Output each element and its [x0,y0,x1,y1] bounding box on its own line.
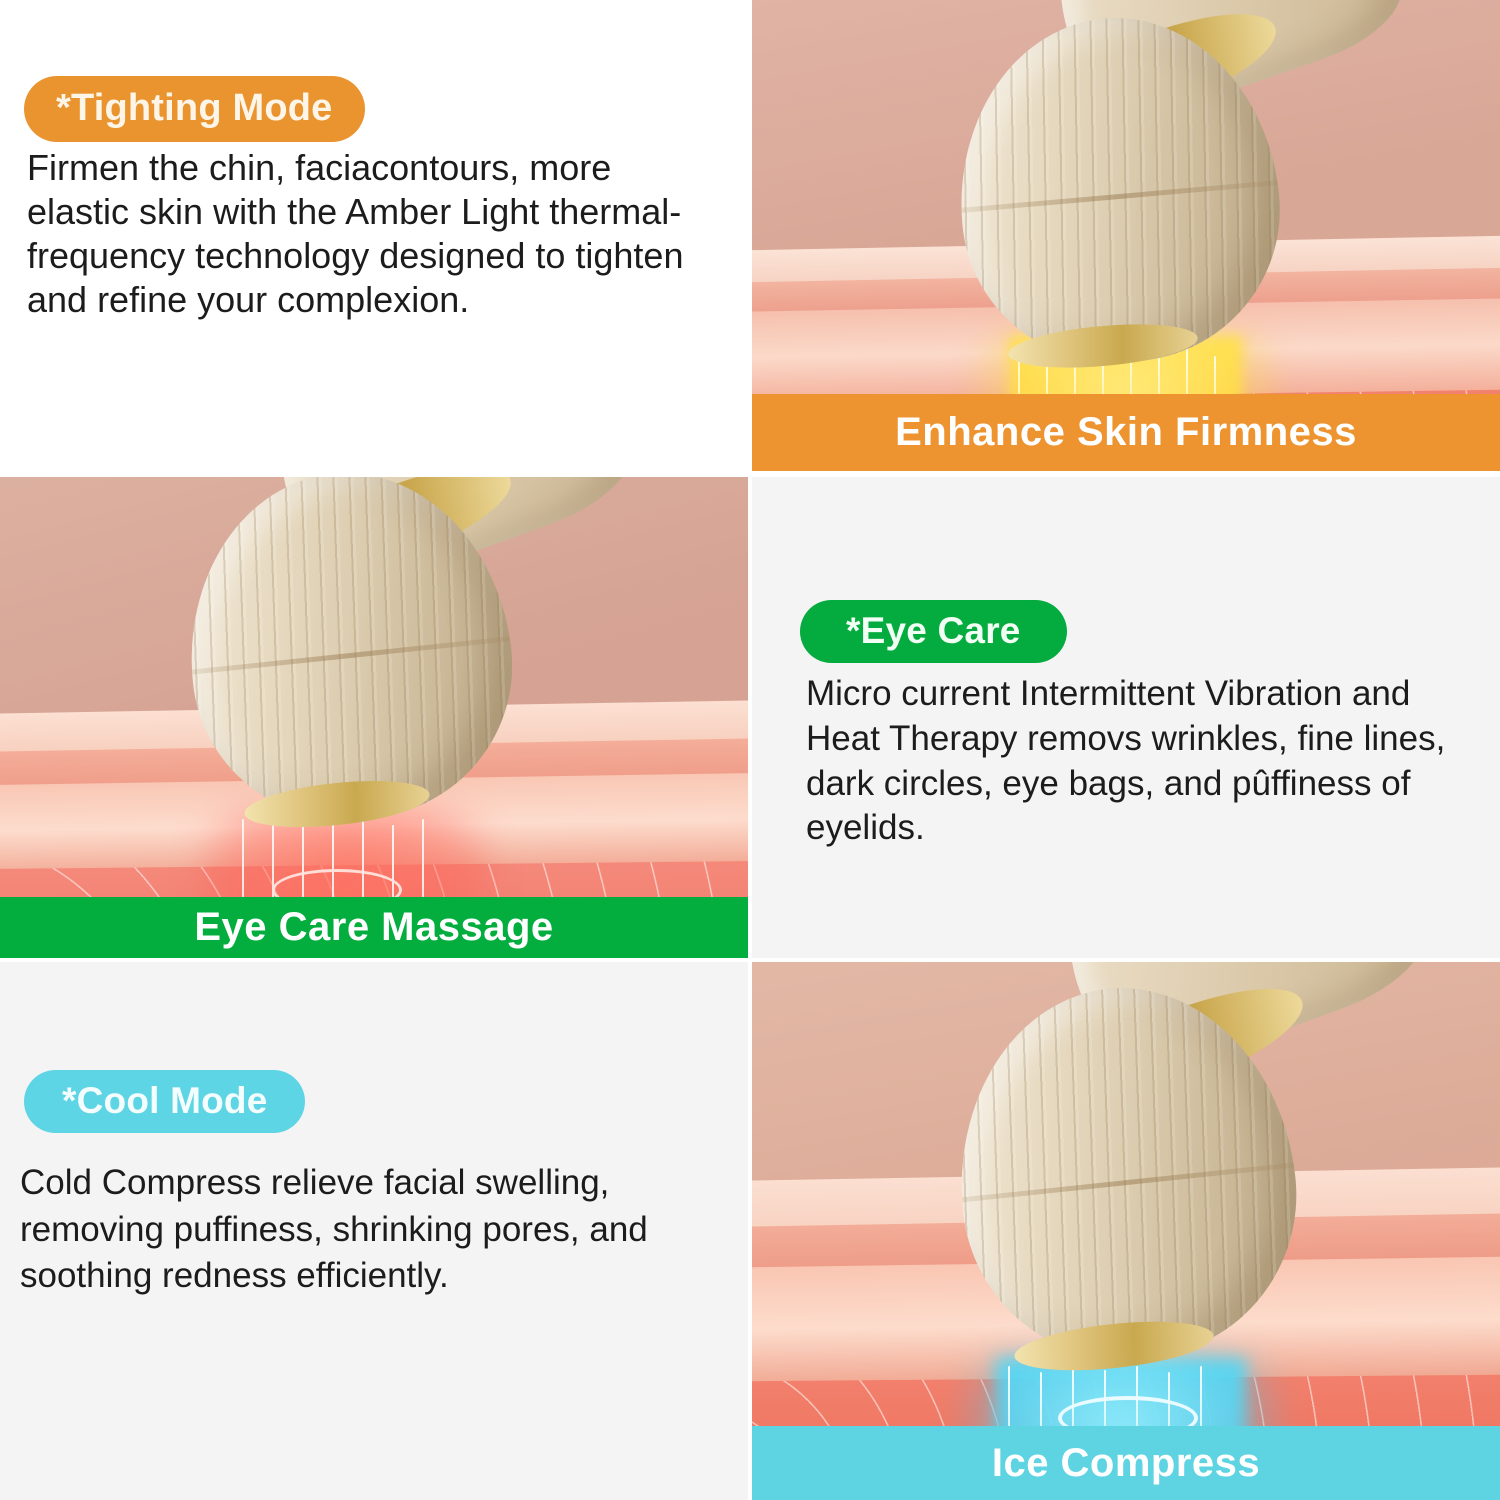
device-head-ribs [942,972,1313,1375]
caption-text-eye-massage: Eye Care Massage [194,905,553,950]
amber-light-scene: Enhance Skin Firmness [752,0,1500,471]
blue-light-scene: Ice Compress [752,962,1500,1500]
product-feature-infographic: *Tighting Mode Firmen the chin, faciacon… [0,0,1500,1500]
eye-care-description: Micro current Intermittent Vibration and… [806,672,1466,851]
panel-ice-compress-photo: Ice Compress [752,962,1500,1500]
eye-care-badge: *Eye Care [800,600,1067,663]
caption-bar-enhance-skin-firmness: Enhance Skin Firmness [752,394,1500,471]
caption-text-ice: Ice Compress [992,1441,1260,1486]
device-head-ribs [946,5,1293,375]
device-head [942,972,1313,1375]
caption-text-firmness: Enhance Skin Firmness [895,410,1357,455]
panel-eye-care-massage-photo: Eye Care Massage [0,477,748,958]
panel-tightening-mode-text: *Tighting Mode Firmen the chin, faciacon… [0,0,750,471]
cool-mode-description: Cold Compress relieve facial swelling, r… [20,1160,720,1300]
tightening-mode-description: Firmen the chin, faciacontours, more ela… [27,146,707,322]
caption-bar-eye-care-massage: Eye Care Massage [0,897,748,958]
caption-bar-ice-compress: Ice Compress [752,1426,1500,1500]
panel-enhance-skin-firmness-photo: Enhance Skin Firmness [752,0,1500,471]
tightening-mode-badge: *Tighting Mode [24,76,365,142]
cool-mode-badge: *Cool Mode [24,1070,305,1133]
red-light-scene: Eye Care Massage [0,477,748,958]
device-head [946,5,1293,375]
